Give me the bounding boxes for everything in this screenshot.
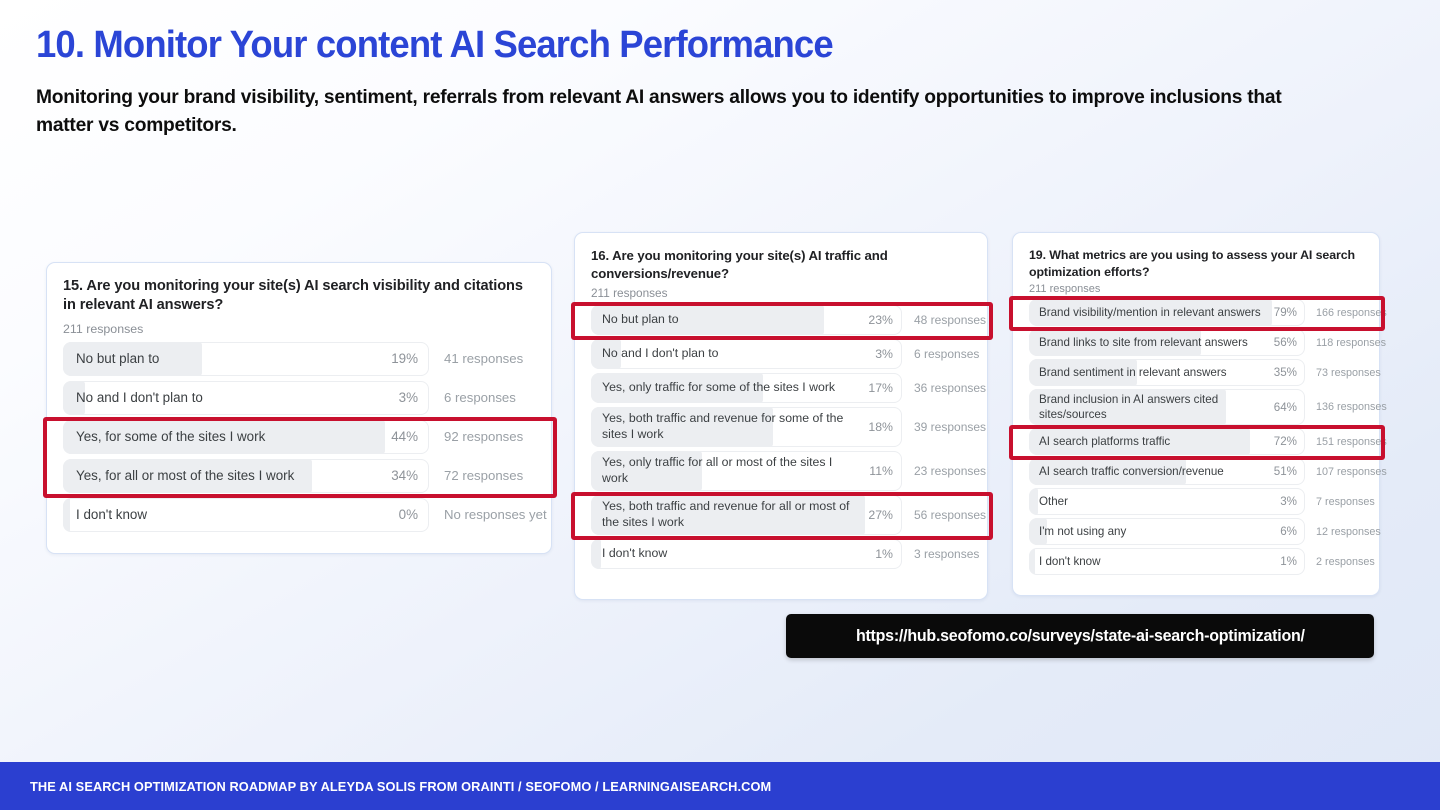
bar-track: AI search platforms traffic72% <box>1029 428 1305 455</box>
bar-label: I don't know <box>1039 554 1109 569</box>
bar-label: Brand visibility/mention in relevant ans… <box>1039 305 1269 320</box>
bar-percent: 34% <box>391 468 418 483</box>
bar-percent: 19% <box>391 351 418 366</box>
bar-label: Brand links to site from relevant answer… <box>1039 335 1256 350</box>
bar-label: No but plan to <box>76 350 167 367</box>
bar-row: AI search platforms traffic72%151 respon… <box>1029 428 1365 455</box>
bar-track: Brand visibility/mention in relevant ans… <box>1029 299 1305 326</box>
bar-fill <box>591 539 601 569</box>
bar-list: No but plan to19%41 responsesNo and I do… <box>63 342 537 532</box>
card-response-count: 211 responses <box>591 286 973 300</box>
bar-track: No and I don't plan to3% <box>63 381 429 415</box>
bar-row: No and I don't plan to3%6 responses <box>63 381 537 415</box>
bar-label: Yes, for all or most of the sites I work <box>76 467 302 484</box>
bar-row: Brand sentiment in relevant answers35%73… <box>1029 359 1365 386</box>
bar-track: Brand inclusion in AI answers cited site… <box>1029 389 1305 425</box>
bar-track: No but plan to23% <box>591 305 902 335</box>
bar-response-count: 166 responses <box>1305 299 1387 326</box>
bar-track: No and I don't plan to3% <box>591 339 902 369</box>
bar-response-count: 23 responses <box>902 451 986 491</box>
bar-list: Brand visibility/mention in relevant ans… <box>1029 299 1365 575</box>
bar-track: I don't know1% <box>1029 548 1305 575</box>
bar-row: AI search traffic conversion/revenue51%1… <box>1029 458 1365 485</box>
bar-track: I'm not using any6% <box>1029 518 1305 545</box>
bar-response-count: 48 responses <box>902 305 986 335</box>
bar-response-count: 73 responses <box>1305 359 1381 386</box>
bar-label: Yes, both traffic and revenue for all or… <box>602 499 868 531</box>
bar-percent: 3% <box>1280 495 1297 508</box>
bar-response-count: 6 responses <box>429 381 516 415</box>
bar-label: Yes, only traffic for all or most of the… <box>602 455 869 487</box>
bar-percent: 56% <box>1274 336 1297 349</box>
bar-response-count: 3 responses <box>902 539 979 569</box>
bar-track: Other3% <box>1029 488 1305 515</box>
bar-label: Other <box>1039 494 1076 509</box>
bar-response-count: 41 responses <box>429 342 523 376</box>
bar-percent: 44% <box>391 429 418 444</box>
bar-label: Brand sentiment in relevant answers <box>1039 365 1235 380</box>
bar-percent: 27% <box>868 508 893 522</box>
bar-percent: 1% <box>875 547 893 561</box>
bar-track: No but plan to19% <box>63 342 429 376</box>
bar-track: Yes, only traffic for all or most of the… <box>591 451 902 491</box>
bar-row: I don't know0%No responses yet <box>63 498 537 532</box>
bar-row: No but plan to19%41 responses <box>63 342 537 376</box>
bar-row: Brand inclusion in AI answers cited site… <box>1029 389 1365 425</box>
bar-response-count: 136 responses <box>1305 389 1387 425</box>
bar-percent: 51% <box>1274 465 1297 478</box>
bar-row: Yes, both traffic and revenue for some o… <box>591 407 973 447</box>
bar-percent: 18% <box>868 420 893 434</box>
bar-response-count: No responses yet <box>429 498 547 532</box>
bar-label: Yes, only traffic for some of the sites … <box>602 380 843 396</box>
survey-card-q16: 16. Are you monitoring your site(s) AI t… <box>574 232 988 600</box>
bar-percent: 72% <box>1274 435 1297 448</box>
bar-label: No and I don't plan to <box>76 389 211 406</box>
bar-row: Yes, for some of the sites I work44%92 r… <box>63 420 537 454</box>
bar-row: Other3%7 responses <box>1029 488 1365 515</box>
bar-row: No but plan to23%48 responses <box>591 305 973 335</box>
card-response-count: 211 responses <box>1029 283 1365 295</box>
bar-label: I'm not using any <box>1039 524 1134 539</box>
bar-percent: 3% <box>875 347 893 361</box>
footer-bar: THE AI SEARCH OPTIMIZATION ROADMAP BY AL… <box>0 762 1440 810</box>
page-subtitle: Monitoring your brand visibility, sentim… <box>36 84 1336 139</box>
bar-response-count: 39 responses <box>902 407 986 447</box>
bar-percent: 6% <box>1280 525 1297 538</box>
bar-track: Brand links to site from relevant answer… <box>1029 329 1305 356</box>
card-response-count: 211 responses <box>63 322 537 336</box>
bar-label: I don't know <box>602 546 675 562</box>
bar-response-count: 72 responses <box>429 459 523 493</box>
bar-track: Yes, for all or most of the sites I work… <box>63 459 429 493</box>
bar-track: Yes, both traffic and revenue for all or… <box>591 495 902 535</box>
bar-response-count: 6 responses <box>902 339 979 369</box>
bar-row: I don't know1%3 responses <box>591 539 973 569</box>
bar-track: Brand sentiment in relevant answers35% <box>1029 359 1305 386</box>
bar-fill <box>1029 548 1035 575</box>
bar-label: No and I don't plan to <box>602 346 727 362</box>
bar-percent: 35% <box>1274 366 1297 379</box>
footer-text: THE AI SEARCH OPTIMIZATION ROADMAP BY AL… <box>30 779 771 794</box>
bar-fill <box>63 498 70 532</box>
bar-row: Yes, for all or most of the sites I work… <box>63 459 537 493</box>
bar-percent: 0% <box>399 507 418 522</box>
bar-response-count: 12 responses <box>1305 518 1381 545</box>
bar-response-count: 2 responses <box>1305 548 1375 575</box>
bar-fill <box>1029 488 1038 515</box>
bar-percent: 79% <box>1274 306 1297 319</box>
bar-track: I don't know0% <box>63 498 429 532</box>
bar-label: AI search traffic conversion/revenue <box>1039 464 1232 479</box>
bar-row: Brand links to site from relevant answer… <box>1029 329 1365 356</box>
page-title: 10. Monitor Your content AI Search Perfo… <box>36 24 833 67</box>
bar-label: No but plan to <box>602 312 687 328</box>
bar-label: I don't know <box>76 506 155 523</box>
bar-track: Yes, for some of the sites I work44% <box>63 420 429 454</box>
card-title: 15. Are you monitoring your site(s) AI s… <box>63 277 537 316</box>
bar-response-count: 56 responses <box>902 495 986 535</box>
bar-row: I'm not using any6%12 responses <box>1029 518 1365 545</box>
bar-percent: 3% <box>399 390 418 405</box>
bar-row: No and I don't plan to3%6 responses <box>591 339 973 369</box>
bar-row: I don't know1%2 responses <box>1029 548 1365 575</box>
bar-label: AI search platforms traffic <box>1039 434 1178 449</box>
bar-track: Yes, only traffic for some of the sites … <box>591 373 902 403</box>
card-title: 19. What metrics are you using to assess… <box>1029 247 1365 280</box>
bar-response-count: 118 responses <box>1305 329 1386 356</box>
bar-row: Brand visibility/mention in relevant ans… <box>1029 299 1365 326</box>
bar-percent: 1% <box>1280 555 1297 568</box>
bar-response-count: 92 responses <box>429 420 523 454</box>
bar-label: Yes, both traffic and revenue for some o… <box>602 411 868 443</box>
survey-card-q15: 15. Are you monitoring your site(s) AI s… <box>46 262 552 554</box>
bar-response-count: 151 responses <box>1305 428 1387 455</box>
bar-percent: 23% <box>868 313 893 327</box>
bar-track: Yes, both traffic and revenue for some o… <box>591 407 902 447</box>
bar-row: Yes, both traffic and revenue for all or… <box>591 495 973 535</box>
bar-percent: 64% <box>1274 401 1297 414</box>
bar-row: Yes, only traffic for all or most of the… <box>591 451 973 491</box>
bar-response-count: 7 responses <box>1305 488 1375 515</box>
bar-percent: 17% <box>868 381 893 395</box>
source-url-chip[interactable]: https://hub.seofomo.co/surveys/state-ai-… <box>786 614 1374 658</box>
card-title: 16. Are you monitoring your site(s) AI t… <box>591 247 973 282</box>
bar-response-count: 36 responses <box>902 373 986 403</box>
bar-response-count: 107 responses <box>1305 458 1387 485</box>
bar-row: Yes, only traffic for some of the sites … <box>591 373 973 403</box>
bar-track: I don't know1% <box>591 539 902 569</box>
bar-track: AI search traffic conversion/revenue51% <box>1029 458 1305 485</box>
survey-card-q19: 19. What metrics are you using to assess… <box>1012 232 1380 596</box>
bar-percent: 11% <box>869 464 893 478</box>
bar-list: No but plan to23%48 responsesNo and I do… <box>591 305 973 569</box>
bar-label: Yes, for some of the sites I work <box>76 428 273 445</box>
source-url-text: https://hub.seofomo.co/surveys/state-ai-… <box>856 627 1305 646</box>
bar-label: Brand inclusion in AI answers cited site… <box>1039 392 1274 422</box>
